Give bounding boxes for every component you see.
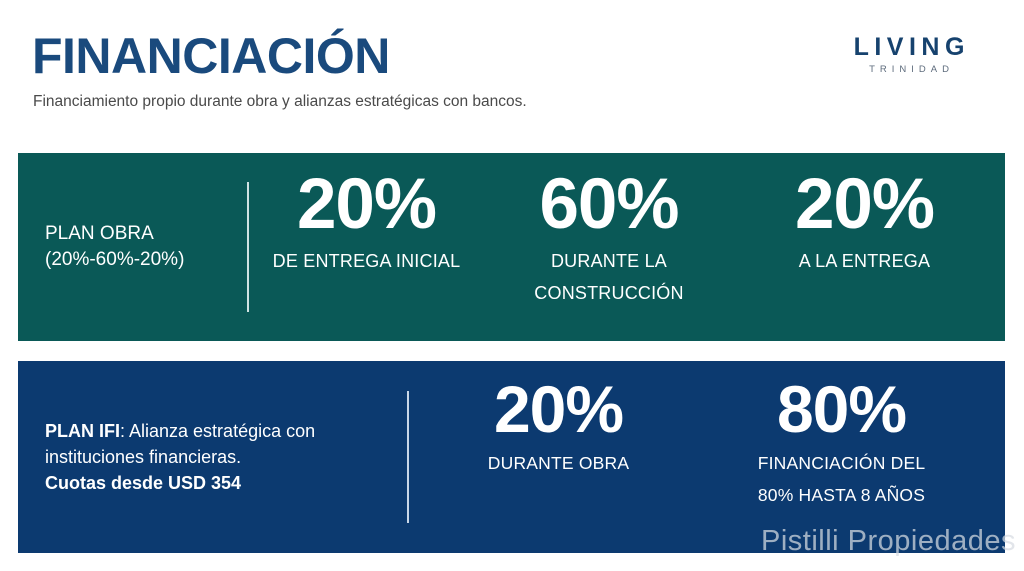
- plan-ifi-cuotas: Cuotas desde USD 354: [45, 473, 241, 493]
- plan-ifi-stats: 20% DURANTE OBRA 80% FINANCIACIÓN DEL 80…: [409, 346, 1005, 568]
- plan-ifi-name: PLAN IFI: [45, 421, 120, 441]
- logo-wordmark: LIVING: [824, 34, 994, 60]
- plan-ifi-label-rest1: : Alianza estratégica con: [120, 421, 315, 441]
- plan-obra-label-line1: PLAN OBRA: [45, 221, 247, 247]
- stat-value: 20%: [249, 169, 484, 240]
- stat-caption-line2: CONSTRUCCIÓN: [484, 282, 734, 304]
- stat-caption-line1: DURANTE OBRA: [431, 452, 686, 474]
- plan-obra-stats: 20% DE ENTREGA INICIAL 60% DURANTE LA CO…: [249, 137, 1005, 357]
- stat-value: 20%: [431, 376, 686, 442]
- page-title: FINANCIACIÓN: [32, 28, 390, 84]
- stat-durante-obra: 20% DURANTE OBRA: [431, 376, 686, 484]
- stat-value: 20%: [734, 169, 995, 240]
- stat-caption-line2: 80% HASTA 8 AÑOS: [686, 484, 997, 506]
- stat-a-la-entrega: 20% A LA ENTREGA: [734, 169, 1005, 282]
- plan-ifi-label-line1: PLAN IFI: Alianza estratégica con: [45, 418, 407, 444]
- plan-obra-label: PLAN OBRA (20%-60%-20%): [18, 221, 247, 273]
- page-subtitle: Financiamiento propio durante obra y ali…: [33, 92, 527, 112]
- panel-plan-ifi: PLAN IFI: Alianza estratégica con instit…: [18, 361, 1005, 553]
- stat-durante-construccion: 60% DURANTE LA CONSTRUCCIÓN: [484, 169, 734, 304]
- panel-plan-obra: PLAN OBRA (20%-60%-20%) 20% DE ENTREGA I…: [18, 153, 1005, 341]
- stat-caption-line1: FINANCIACIÓN DEL: [686, 452, 997, 474]
- slide-header: FINANCIACIÓN Financiamiento propio duran…: [0, 0, 1024, 150]
- logo-living-trinidad: LIVING TRINIDAD: [824, 34, 994, 75]
- slide-financiacion: FINANCIACIÓN Financiamiento propio duran…: [0, 0, 1024, 571]
- stat-value: 80%: [686, 376, 997, 442]
- logo-tagline: TRINIDAD: [824, 64, 994, 75]
- stat-financiacion-80: 80% FINANCIACIÓN DEL 80% HASTA 8 AÑOS: [686, 376, 1005, 506]
- stat-caption-line1: DE ENTREGA INICIAL: [249, 250, 484, 272]
- plan-ifi-label-line2: instituciones financieras.: [45, 444, 407, 470]
- plan-ifi-label: PLAN IFI: Alianza estratégica con instit…: [18, 418, 407, 496]
- stat-caption-line1: DURANTE LA: [484, 250, 734, 272]
- stat-value: 60%: [484, 169, 734, 240]
- stat-entrega-inicial: 20% DE ENTREGA INICIAL: [249, 169, 484, 282]
- stat-caption-line1: A LA ENTREGA: [734, 250, 995, 272]
- plan-obra-label-line2: (20%-60%-20%): [45, 247, 247, 273]
